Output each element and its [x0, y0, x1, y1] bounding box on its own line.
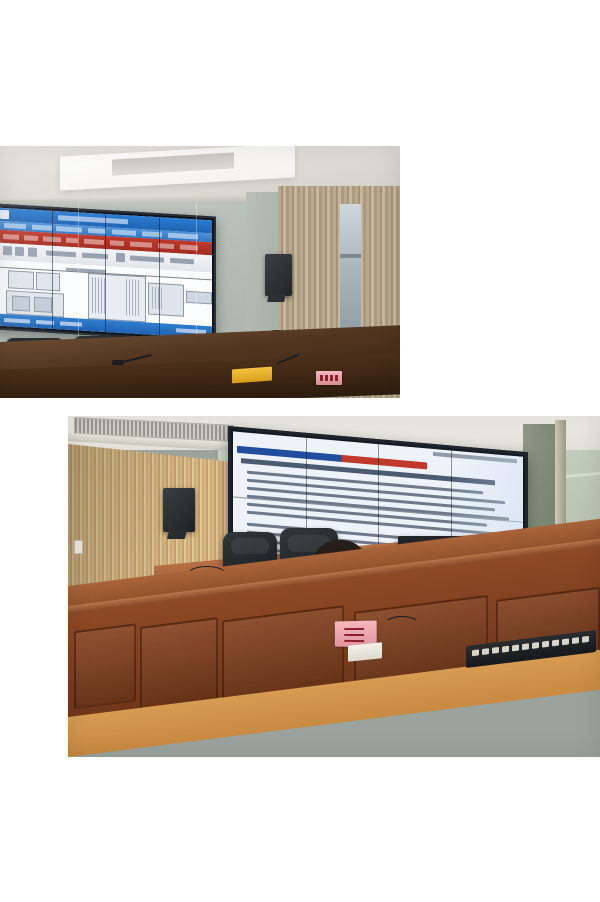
wall-speaker — [163, 488, 195, 532]
wall-speaker — [265, 254, 292, 296]
app-title-text — [58, 215, 128, 224]
cable — [186, 566, 228, 586]
desk-panel — [140, 617, 218, 711]
light-switch — [74, 540, 83, 554]
window — [340, 204, 361, 346]
name-plate — [316, 371, 342, 385]
collage-page — [0, 0, 600, 902]
cable — [384, 616, 420, 634]
desk-panel — [74, 623, 136, 709]
yellow-folder — [232, 367, 272, 384]
window-frame-bar — [340, 254, 361, 258]
video-wall — [0, 203, 216, 342]
photo-top — [0, 146, 400, 398]
video-wall-screen — [0, 208, 212, 339]
app-icon — [0, 210, 9, 220]
photo-bottom — [68, 416, 600, 757]
microphone — [112, 360, 124, 365]
